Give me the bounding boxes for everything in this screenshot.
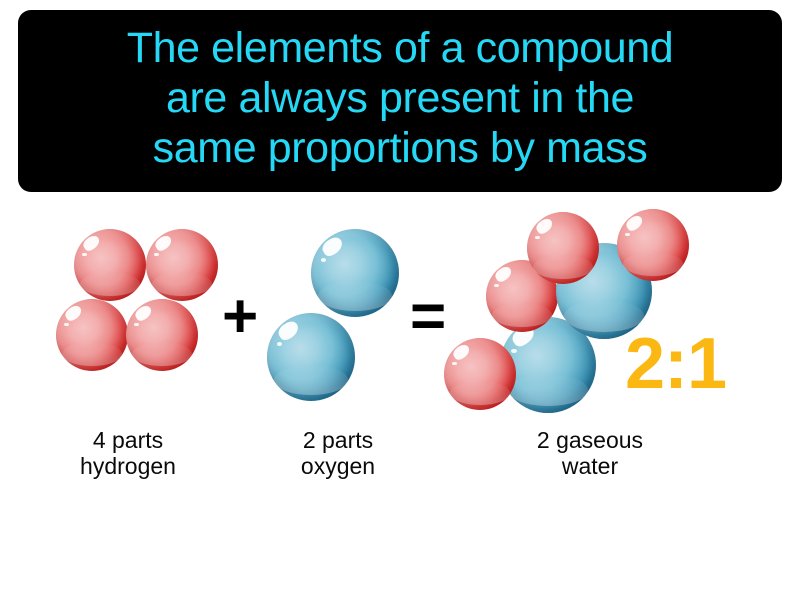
sphere-sheen bbox=[274, 365, 348, 395]
oxygen-atom-2 bbox=[267, 313, 355, 401]
sphere-sheen bbox=[80, 272, 140, 296]
sphere-sheen bbox=[152, 272, 212, 296]
hydrogen-atom-3 bbox=[56, 299, 128, 371]
caption-water: 2 gaseous water bbox=[480, 428, 700, 480]
oxygen-atom-1 bbox=[311, 229, 399, 317]
plus-operator: + bbox=[222, 286, 258, 348]
water1-hydrogen-right bbox=[617, 209, 689, 281]
ratio-label: 2:1 bbox=[625, 328, 726, 400]
sphere-sheen bbox=[623, 252, 683, 276]
water2-hydrogen-left bbox=[444, 338, 516, 410]
sphere-sheen bbox=[132, 342, 192, 366]
hydrogen-atom-4 bbox=[126, 299, 198, 371]
sphere-sheen bbox=[318, 281, 392, 311]
sphere-sheen bbox=[492, 303, 552, 327]
hydrogen-atom-2 bbox=[146, 229, 218, 301]
sphere-sheen bbox=[533, 255, 593, 279]
water1-hydrogen-left bbox=[527, 212, 599, 284]
sphere-sheen bbox=[508, 374, 589, 407]
caption-hydrogen: 4 parts hydrogen bbox=[28, 428, 228, 480]
caption-oxygen: 2 parts oxygen bbox=[245, 428, 431, 480]
definition-banner: The elements of a compound are always pr… bbox=[18, 10, 782, 192]
equation-area: + = 2:1 4 parts hydrogen 2 parts oxygen … bbox=[0, 196, 800, 496]
definition-text: The elements of a compound are always pr… bbox=[127, 23, 674, 174]
equals-operator: = bbox=[410, 286, 446, 348]
sphere-sheen bbox=[450, 381, 510, 405]
sphere-sheen bbox=[62, 342, 122, 366]
hydrogen-atom-1 bbox=[74, 229, 146, 301]
